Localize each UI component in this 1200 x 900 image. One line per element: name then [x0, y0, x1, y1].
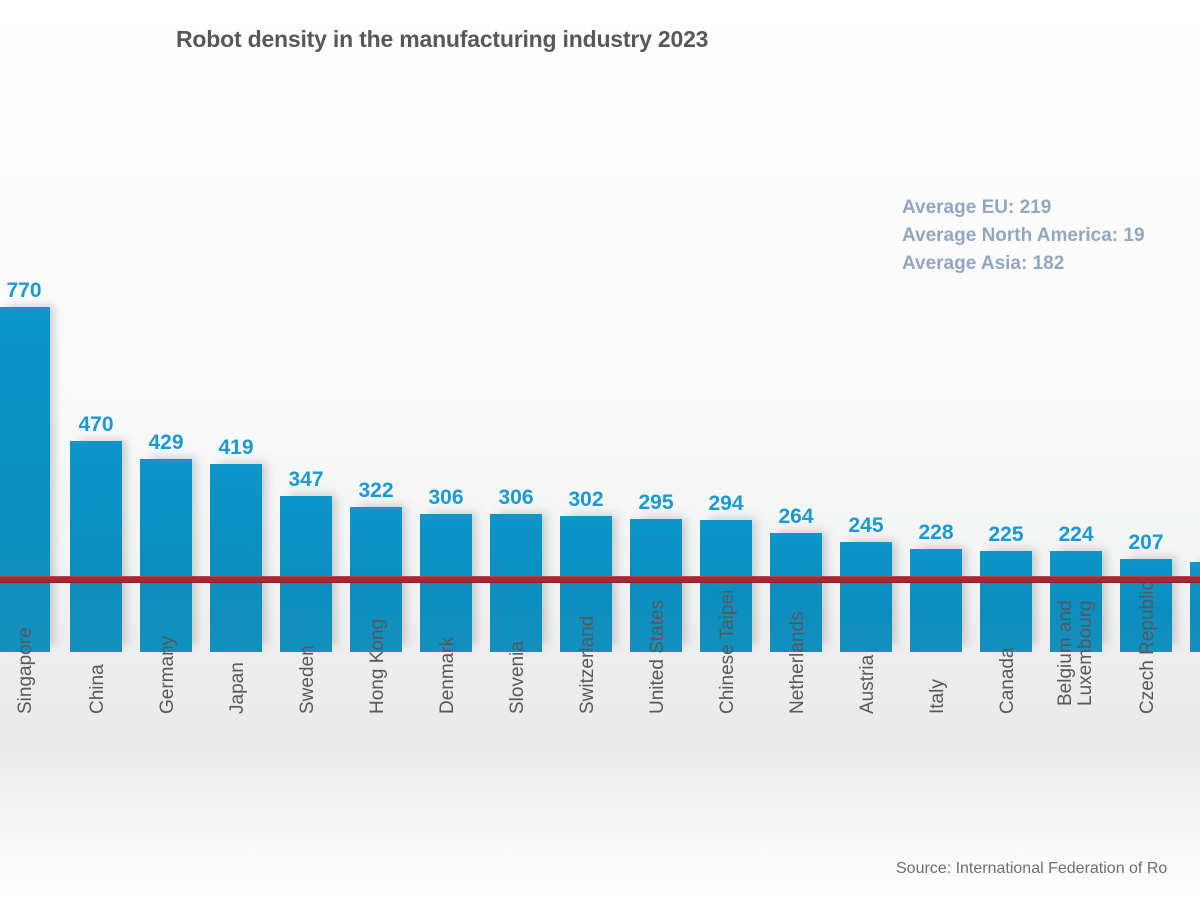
- bar-value-label: 302: [560, 488, 612, 512]
- category-label: Canada: [998, 662, 1018, 714]
- category-label: Sweden: [298, 662, 318, 714]
- bar-value-label: 228: [910, 521, 962, 545]
- bar-value-label: 306: [490, 486, 542, 510]
- bar[interactable]: [0, 307, 50, 652]
- bar[interactable]: [280, 496, 332, 652]
- category-label: Austria: [858, 662, 878, 714]
- bar-value-label: 224: [1050, 523, 1102, 547]
- category-label: United States: [648, 662, 668, 714]
- bar[interactable]: [840, 542, 892, 652]
- chart-slide: Robot density in the manufacturing indus…: [0, 0, 1200, 900]
- bar-value-label: 470: [70, 413, 122, 437]
- category-label: Netherlands: [788, 662, 808, 714]
- bar-chart-plot-area: 770Singapore470China429Germany419Japan34…: [0, 0, 1200, 900]
- bar[interactable]: [420, 514, 472, 652]
- category-label: Belgium andLuxembourg: [1056, 662, 1096, 706]
- source-attribution: Source: International Federation of Ro: [896, 860, 1167, 878]
- category-label: Germany: [158, 662, 178, 714]
- bar-value-label: 207: [1120, 531, 1172, 555]
- bar-value-label: 347: [280, 468, 332, 492]
- bar[interactable]: [490, 514, 542, 652]
- bar-value-label: 294: [700, 492, 752, 516]
- bar[interactable]: [140, 459, 192, 652]
- category-label: Japan: [228, 662, 248, 714]
- bar[interactable]: [910, 549, 962, 652]
- bar-value-label: 225: [980, 523, 1032, 547]
- bar-value-label: 419: [210, 436, 262, 460]
- category-label: Hong Kong: [368, 662, 388, 714]
- bar-value-label: 322: [350, 479, 402, 503]
- average-reference-line: [0, 576, 1200, 583]
- bar[interactable]: [70, 441, 122, 652]
- bar-value-label: 295: [630, 491, 682, 515]
- bar-value-label: 2: [1190, 534, 1200, 558]
- category-label: Chinese Taipei: [718, 662, 738, 714]
- bar-value-label: 770: [0, 279, 50, 303]
- category-label: Czech Republic: [1138, 662, 1158, 714]
- category-label: Singapore: [16, 662, 36, 714]
- bar-value-label: 264: [770, 505, 822, 529]
- category-label: Italy: [928, 662, 948, 714]
- bar-value-label: 429: [140, 431, 192, 455]
- bar-value-label: 306: [420, 486, 472, 510]
- bar[interactable]: [210, 464, 262, 652]
- category-label: China: [88, 662, 108, 714]
- category-label: Switzerland: [578, 662, 598, 714]
- bar-value-label: 245: [840, 514, 892, 538]
- bar[interactable]: [980, 551, 1032, 652]
- category-label: Slovenia: [508, 662, 528, 714]
- category-label: Denmark: [438, 662, 458, 714]
